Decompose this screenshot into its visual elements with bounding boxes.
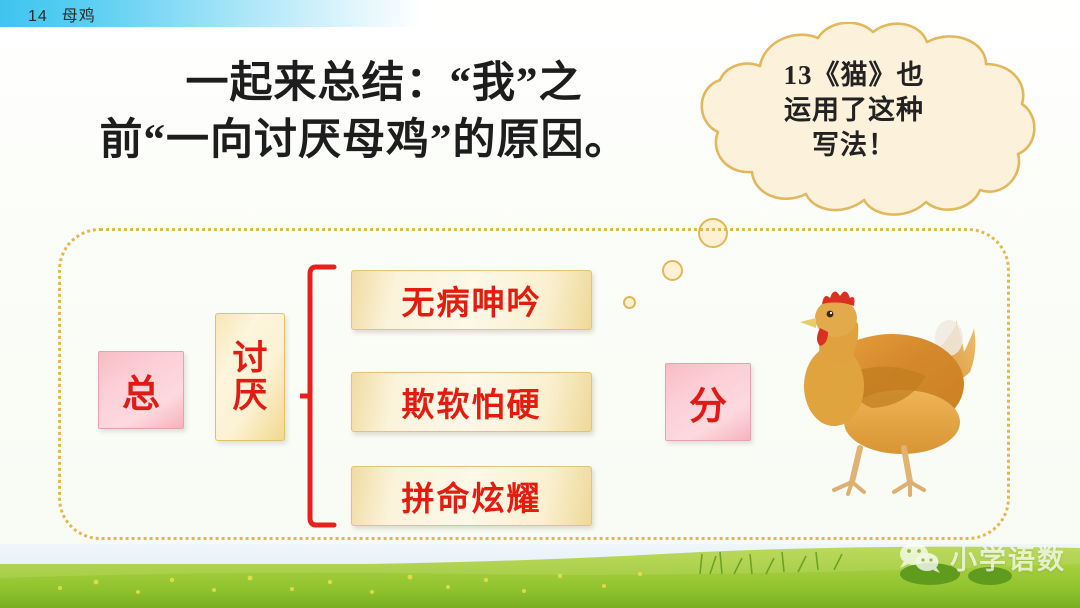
watermark-text: 小学语数: [950, 538, 1066, 577]
node-summary[interactable]: 总: [98, 351, 184, 429]
header-label: 14母鸡: [28, 2, 96, 26]
cloud-line-1: 13《猫》也: [668, 58, 1040, 93]
cloud-line-3: 写法！: [668, 128, 1040, 163]
cloud-line-2: 运用了这种: [668, 93, 1040, 128]
lesson-title: 母鸡: [62, 8, 96, 25]
title-line-1: 一起来总结：“我”之: [44, 56, 684, 113]
node-attitude[interactable]: 讨 厌: [215, 313, 285, 441]
reason-box-1[interactable]: 无病呻吟: [351, 270, 592, 330]
reason-box-2[interactable]: 欺软怕硬: [351, 372, 592, 432]
node-attitude-char-1: 讨: [232, 340, 267, 377]
page-title: 一起来总结：“我”之 前“一向讨厌母鸡”的原因。: [44, 56, 684, 170]
thought-cloud: 13《猫》也 运用了这种 写法！: [668, 22, 1040, 218]
reason-box-3[interactable]: 拼命炫耀: [351, 466, 592, 526]
node-detail[interactable]: 分: [665, 363, 751, 441]
red-bracket: [300, 262, 342, 530]
thought-cloud-text: 13《猫》也 运用了这种 写法！: [668, 58, 1040, 163]
node-attitude-char-2: 厌: [232, 377, 267, 414]
lesson-number: 14: [28, 8, 48, 25]
slide-canvas: 14母鸡 一起来总结：“我”之 前“一向讨厌母鸡”的原因。 13《猫》也 运用了…: [0, 0, 1080, 608]
title-line-2: 前“一向讨厌母鸡”的原因。: [44, 113, 684, 170]
wechat-icon: [898, 541, 942, 575]
watermark: 小学语数: [898, 538, 1066, 577]
hen-image: [786, 276, 1006, 508]
